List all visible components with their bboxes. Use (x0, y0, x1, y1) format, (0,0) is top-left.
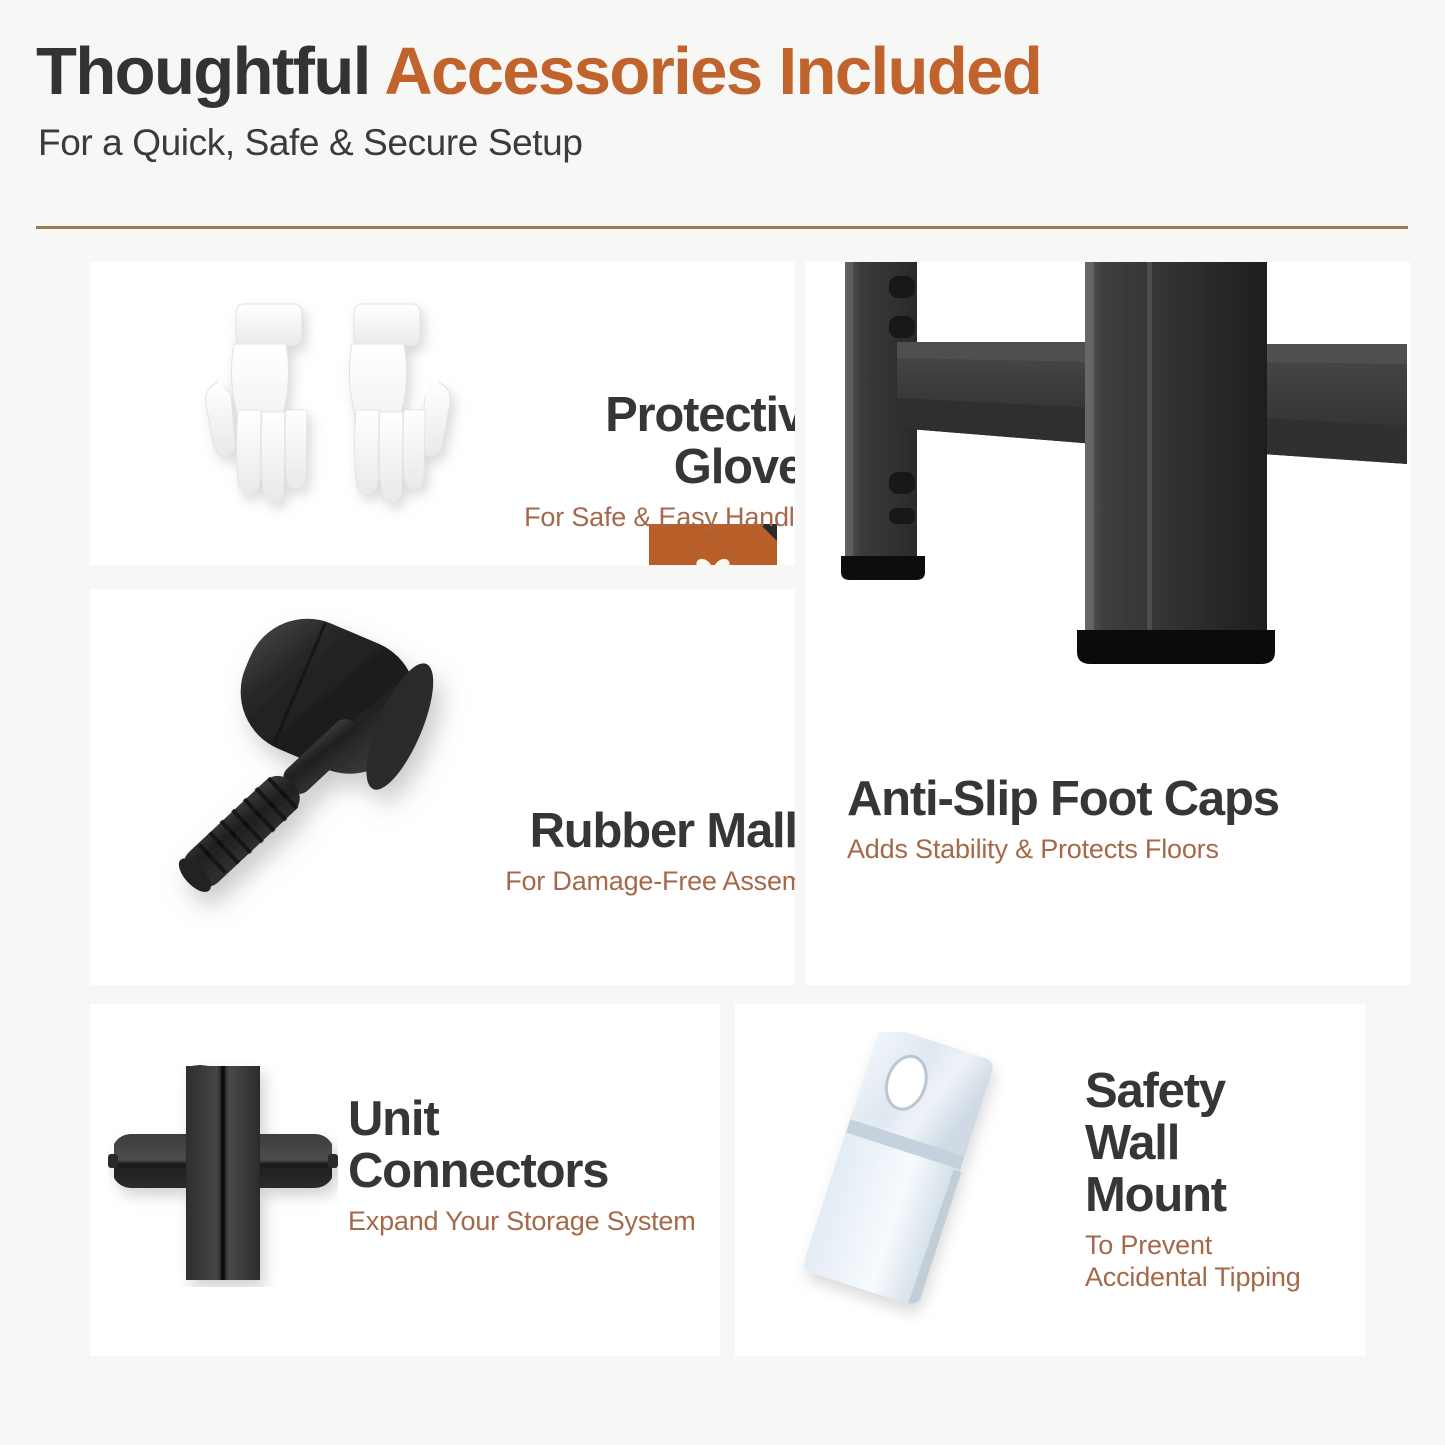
page-title-accent: Accessories Included (384, 34, 1041, 109)
unit-connectors-image (108, 1062, 338, 1287)
mallet-text-block: Rubber Mallet For Damage-Free Assembly (490, 806, 795, 898)
wall-mount-image (777, 1032, 1027, 1322)
card-title: Protective Gloves (500, 390, 795, 494)
card-rubber-mallet: Rubber Mallet For Damage-Free Assembly (90, 589, 795, 985)
page-title: Thoughtful Accessories Included (36, 38, 1411, 105)
card-title: Unit Connectors (348, 1094, 708, 1198)
card-anti-slip-foot-caps: Anti-Slip Foot Caps Adds Stability & Pro… (805, 262, 1410, 985)
unit-connectors-text-block: Unit Connectors Expand Your Storage Syst… (348, 1094, 708, 1238)
card-protective-gloves: Protective Gloves For Safe & Easy Handli… (90, 262, 795, 565)
header: Thoughtful Accessories Included For a Qu… (36, 38, 1411, 164)
gift-icon (675, 550, 751, 565)
wall-mount-text-block: Safety Wall Mount To Prevent Accidental … (1085, 1066, 1327, 1294)
gloves-text-block: Protective Gloves For Safe & Easy Handli… (500, 390, 795, 534)
card-subtitle: For Damage-Free Assembly (490, 866, 795, 898)
card-subtitle: To Prevent Accidental Tipping (1085, 1230, 1327, 1294)
header-divider (36, 226, 1408, 229)
foot-caps-image (827, 262, 1407, 778)
gloves-image (200, 300, 490, 535)
page-subtitle: For a Quick, Safe & Secure Setup (38, 123, 1411, 164)
card-safety-wall-mount: Safety Wall Mount To Prevent Accidental … (735, 1004, 1365, 1356)
card-subtitle: Expand Your Storage System (348, 1206, 708, 1238)
card-subtitle: For Safe & Easy Handling (500, 502, 795, 534)
card-title: Safety Wall Mount (1085, 1066, 1327, 1222)
mallet-image (120, 607, 500, 967)
card-title: Anti-Slip Foot Caps (847, 774, 1397, 826)
page-title-dark: Thoughtful (36, 34, 384, 109)
infographic-page: Thoughtful Accessories Included For a Qu… (0, 0, 1445, 1445)
card-unit-connectors: Unit Connectors Expand Your Storage Syst… (90, 1004, 720, 1356)
card-title: Rubber Mallet (490, 806, 795, 858)
foot-caps-text-block: Anti-Slip Foot Caps Adds Stability & Pro… (847, 774, 1397, 866)
card-subtitle: Adds Stability & Protects Floors (847, 834, 1397, 866)
